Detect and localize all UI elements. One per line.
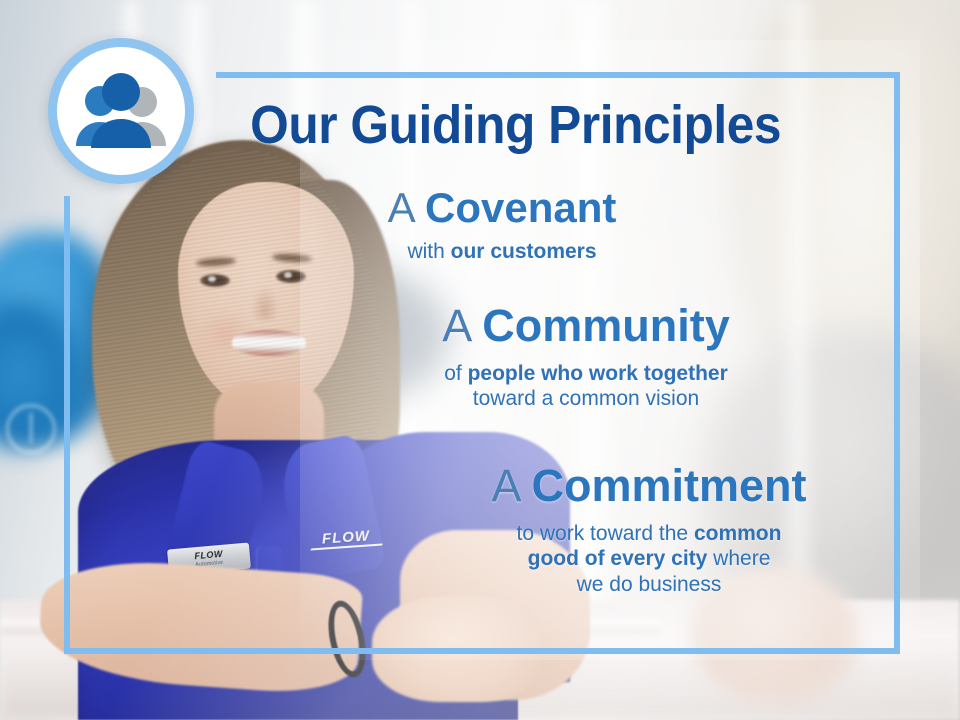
principle-article: A xyxy=(388,184,414,231)
principle-commitment: A Commitment to work toward the common g… xyxy=(424,463,874,598)
frame-top-border xyxy=(216,72,900,78)
principle-subtext: with our customers xyxy=(292,239,712,265)
principle-community: A Community of people who work together … xyxy=(366,303,806,412)
subtext-span: with xyxy=(407,240,450,263)
people-group-icon xyxy=(48,38,194,184)
subtext-span: where xyxy=(707,547,770,570)
principle-covenant: A Covenant with our customers xyxy=(292,186,712,264)
subtext-span-bold: our customers xyxy=(451,240,597,263)
principle-heading: A Commitment xyxy=(424,463,874,510)
principle-keyword: Community xyxy=(482,300,730,351)
subtext-span-bold: good of every city xyxy=(528,547,708,570)
page-title: Our Guiding Principles xyxy=(212,94,819,156)
blurred-vehicle-emblem xyxy=(6,404,56,454)
subtext-span: of xyxy=(444,362,467,385)
subtext-span: to work toward the xyxy=(517,522,694,545)
principle-subtext-line: good of every city where xyxy=(424,546,874,572)
principle-subtext: to work toward the common good of every … xyxy=(424,521,874,598)
principle-heading: A Covenant xyxy=(292,186,712,230)
principle-subtext-line: to work toward the common xyxy=(424,521,874,547)
principle-subtext-line: we do business xyxy=(424,572,874,598)
subtext-span-bold: common xyxy=(694,522,782,545)
principle-subtext-line: toward a common vision xyxy=(366,386,806,412)
guiding-principles-graphic: FLOW Automotive FLOW xyxy=(0,0,960,720)
principle-article: A xyxy=(491,460,519,511)
principle-subtext: of people who work together toward a com… xyxy=(366,361,806,412)
principle-subtext-line: with our customers xyxy=(292,239,712,265)
subtext-span: toward a common vision xyxy=(473,387,699,410)
principle-heading: A Community xyxy=(366,303,806,350)
frame-right-border xyxy=(894,72,900,654)
principle-subtext-line: of people who work together xyxy=(366,361,806,387)
principle-keyword: Commitment xyxy=(532,460,807,511)
frame-bottom-border xyxy=(64,648,900,654)
subtext-span-bold: people who work together xyxy=(468,362,728,385)
principle-article: A xyxy=(442,300,470,351)
principle-keyword: Covenant xyxy=(425,184,616,231)
frame-left-border xyxy=(64,196,70,654)
subtext-span: we do business xyxy=(577,573,722,596)
